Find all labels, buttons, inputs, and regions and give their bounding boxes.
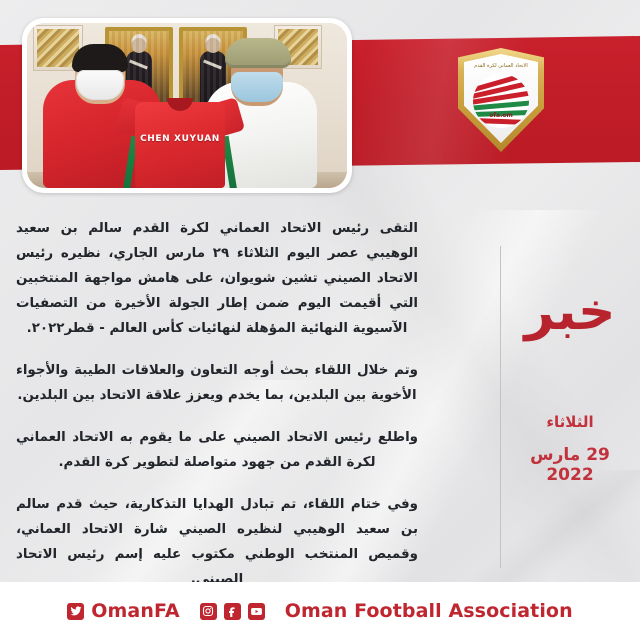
gift-jersey: CHEN XUYUAN (125, 88, 235, 188)
news-category-label: خبر (506, 286, 634, 338)
article-paragraph: التقى رئيس الاتحاد العماني لكرة القدم سا… (16, 216, 418, 341)
news-day-label: الثلاثاء (506, 413, 634, 431)
social-footer: OmanFA Oman Football Association (0, 582, 640, 640)
news-photo-frame: CHEN XUYUAN (22, 18, 352, 193)
news-meta-rail: خبر الثلاثاء 29 مارس 2022 (506, 246, 634, 485)
news-date-label: 29 مارس 2022 (506, 445, 634, 485)
article-paragraph: وتم خلال اللقاء بحث أوجه التعاون والعلاق… (16, 358, 418, 408)
article-paragraph: واطلع رئيس الاتحاد الصيني على ما يقوم به… (16, 425, 418, 475)
news-photo: CHEN XUYUAN (27, 23, 347, 188)
hair (72, 44, 128, 72)
face-mask-white (76, 70, 124, 100)
crest-globe (473, 74, 529, 128)
crest-shield-inner: الاتحاد العماني لكرة القدم ofa.om (464, 54, 538, 143)
organization-name-text: Oman Football Association (285, 600, 573, 622)
twitter-icon[interactable] (67, 603, 84, 620)
ofa-crest-logo: الاتحاد العماني لكرة القدم ofa.om (458, 48, 544, 152)
twitter-handle-text: OmanFA (91, 600, 179, 622)
article-body: التقى رئيس الاتحاد العماني لكرة القدم سا… (16, 216, 418, 592)
face-mask-blue (231, 72, 283, 102)
jersey-body (135, 102, 225, 188)
article-paragraph: وفي ختام اللقاء، تم تبادل الهدايا التذكا… (16, 492, 418, 592)
news-card: CHEN XUYUAN الاتحاد العماني لكرة القدم o… (0, 0, 640, 640)
youtube-icon[interactable] (248, 603, 265, 620)
vertical-divider (500, 246, 501, 568)
jersey-name-print: CHEN XUYUAN (125, 134, 235, 144)
instagram-icon[interactable] (200, 603, 217, 620)
facebook-icon[interactable] (224, 603, 241, 620)
crest-arabic-text: الاتحاد العماني لكرة القدم (464, 63, 538, 69)
omani-kummah-cap (225, 38, 291, 68)
